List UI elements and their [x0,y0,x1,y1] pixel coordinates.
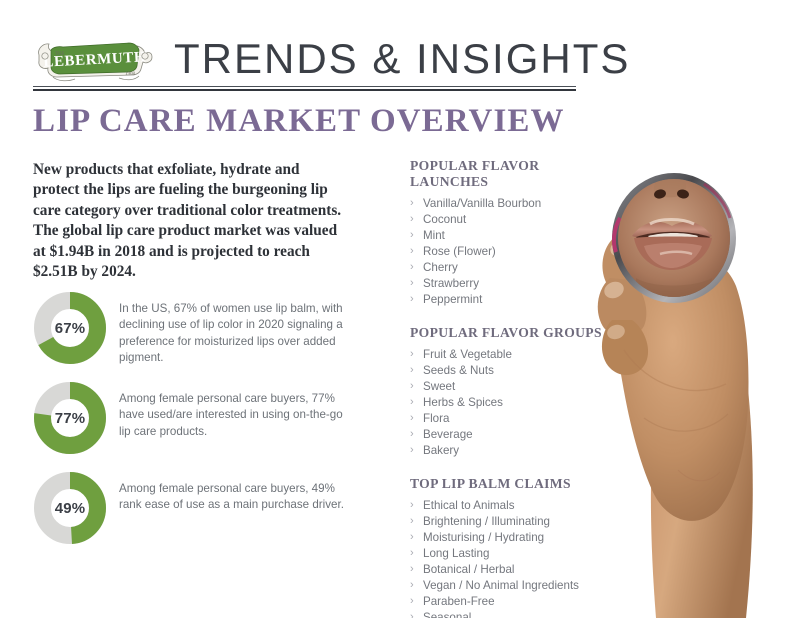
donut-chart-49: 49% [33,471,107,545]
list-item: ›Paraben-Free [410,594,615,610]
list-item: ›Long Lasting [410,546,615,562]
chevron-right-icon: › [410,228,414,243]
stat-row: 49% Among female personal care buyers, 4… [33,469,363,559]
chevron-right-icon: › [410,546,414,561]
list-item: ›Flora [410,411,615,427]
chevron-right-icon: › [410,196,414,211]
header-rule-thin [33,86,576,87]
chevron-right-icon: › [410,363,414,378]
svg-text:THE: THE [55,52,65,57]
list-item: ›Botanical / Herbal [410,562,615,578]
brand-title: TRENDS & INSIGHTS [174,38,630,80]
list-heading: POPULAR FLAVOR LAUNCHES [410,158,615,190]
list-item: ›Seasonal [410,610,615,618]
chevron-right-icon: › [410,212,414,227]
list-item-label: Mint [423,229,445,242]
list-item-label: Ethical to Animals [423,499,515,512]
list-item: ›Brightening / Illuminating [410,514,615,530]
list-item-label: Coconut [423,213,466,226]
list-item: ›Herbs & Spices [410,395,615,411]
chevron-right-icon: › [410,347,414,362]
stat-row: 67% In the US, 67% of women use lip balm… [33,289,363,379]
donut-value-label: 77% [33,381,107,455]
bullet-list: ›Vanilla/Vanilla Bourbon ›Coconut ›Mint … [410,196,615,308]
chevron-right-icon: › [410,276,414,291]
list-item: ›Peppermint [410,292,615,308]
list-item-label: Beverage [423,428,473,441]
list-item: ›Bakery [410,443,615,459]
list-item-label: Sweet [423,380,455,393]
list-item-label: Strawberry [423,277,479,290]
chevron-right-icon: › [410,514,414,529]
list-item: ›Cherry [410,260,615,276]
list-item-label: Paraben-Free [423,595,495,608]
page-title: LIP CARE MARKET OVERVIEW [33,103,565,139]
list-block-balm-claims: TOP LIP BALM CLAIMS ›Ethical to Animals … [410,476,615,618]
list-item-label: Bakery [423,444,459,457]
chevron-right-icon: › [410,562,414,577]
list-item-label: Seasonal [423,611,471,618]
list-item-label: Seeds & Nuts [423,364,494,377]
bullet-list: ›Fruit & Vegetable ›Seeds & Nuts ›Sweet … [410,347,615,459]
list-item: ›Ethical to Animals [410,498,615,514]
header-rule-thick [33,89,576,91]
list-item-label: Botanical / Herbal [423,563,515,576]
list-item-label: Rose (Flower) [423,245,496,258]
chevron-right-icon: › [410,578,414,593]
lips-mirror-photo [586,118,804,618]
list-item: ›Seeds & Nuts [410,363,615,379]
donut-value-label: 67% [33,291,107,365]
list-item-label: Flora [423,412,449,425]
list-item: ›Sweet [410,379,615,395]
list-item-label: Vanilla/Vanilla Bourbon [423,197,541,210]
chevron-right-icon: › [410,498,414,513]
list-item-label: Vegan / No Animal Ingredients [423,579,579,592]
list-item-label: Peppermint [423,293,482,306]
chevron-right-icon: › [410,395,414,410]
list-item: ›Beverage [410,427,615,443]
list-item: ›Vanilla/Vanilla Bourbon [410,196,615,212]
svg-text:1908: 1908 [125,72,136,77]
donut-chart-67: 67% [33,291,107,365]
stat-description: Among female personal care buyers, 77% h… [119,391,357,440]
stats-list: 67% In the US, 67% of women use lip balm… [33,289,363,559]
intro-paragraph: New products that exfoliate, hydrate and… [33,160,349,283]
chevron-right-icon: › [410,379,414,394]
lebermuth-logo: LEBERMUTH THE 1908 [33,33,156,85]
list-item-label: Brightening / Illuminating [423,515,550,528]
chevron-right-icon: › [410,530,414,545]
chevron-right-icon: › [410,443,414,458]
list-item: ›Coconut [410,212,615,228]
list-item: ›Vegan / No Animal Ingredients [410,578,615,594]
lists-column: POPULAR FLAVOR LAUNCHES ›Vanilla/Vanilla… [410,158,615,618]
chevron-right-icon: › [410,610,414,618]
list-item-label: Herbs & Spices [423,396,503,409]
list-item-label: Long Lasting [423,547,489,560]
infographic-page: LEBERMUTH THE 1908 TRENDS & INSIGHTS LIP… [0,0,804,618]
chevron-right-icon: › [410,411,414,426]
list-item: ›Rose (Flower) [410,244,615,260]
list-block-flavor-groups: POPULAR FLAVOR GROUPS ›Fruit & Vegetable… [410,325,615,459]
chevron-right-icon: › [410,244,414,259]
list-item-label: Moisturising / Hydrating [423,531,544,544]
stat-description: In the US, 67% of women use lip balm, wi… [119,301,357,367]
header: LEBERMUTH THE 1908 TRENDS & INSIGHTS [33,28,578,90]
list-item: ›Fruit & Vegetable [410,347,615,363]
bullet-list: ›Ethical to Animals ›Brightening / Illum… [410,498,615,618]
list-item-label: Cherry [423,261,458,274]
list-item: ›Mint [410,228,615,244]
donut-value-label: 49% [33,471,107,545]
donut-chart-77: 77% [33,381,107,455]
chevron-right-icon: › [410,260,414,275]
chevron-right-icon: › [410,292,414,307]
stat-description: Among female personal care buyers, 49% r… [119,481,357,514]
chevron-right-icon: › [410,594,414,609]
stat-row: 77% Among female personal care buyers, 7… [33,379,363,469]
list-item-label: Fruit & Vegetable [423,348,512,361]
list-heading: POPULAR FLAVOR GROUPS [410,325,615,341]
list-item: ›Strawberry [410,276,615,292]
list-heading: TOP LIP BALM CLAIMS [410,476,615,492]
list-block-flavor-launches: POPULAR FLAVOR LAUNCHES ›Vanilla/Vanilla… [410,158,615,308]
list-item: ›Moisturising / Hydrating [410,530,615,546]
chevron-right-icon: › [410,427,414,442]
